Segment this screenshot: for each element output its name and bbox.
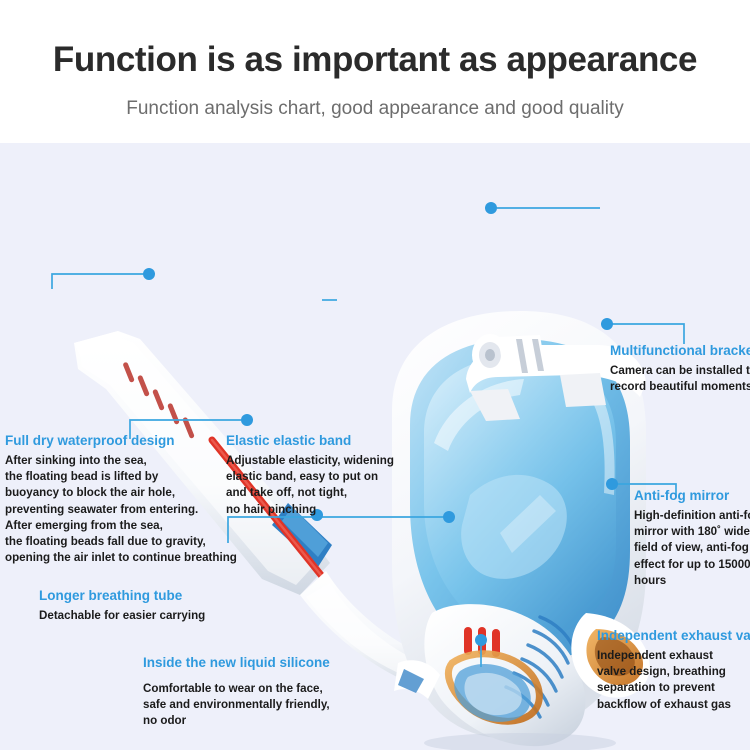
callout-line: and take off, not tight, xyxy=(226,485,394,501)
header-band: Function is as important as appearance F… xyxy=(0,0,750,143)
callout-line: no odor xyxy=(143,713,330,729)
dot-inside-the-new-liquid-silicone xyxy=(443,511,455,523)
callout-line: buoyancy to block the air hole, xyxy=(5,485,237,501)
dot-longer-breathing-tube xyxy=(241,414,253,426)
dot-independent-exhaust-valve xyxy=(606,478,618,490)
page-title: Function is as important as appearance xyxy=(0,40,750,80)
callout-body-elastic-elastic-band: Adjustable elasticity, widening elastic … xyxy=(226,453,394,518)
infographic-page: Function is as important as appearance F… xyxy=(0,0,750,750)
callout-body-multifunctional-bracket: Camera can be installed to record beauti… xyxy=(610,363,750,395)
callout-line: Independent exhaust xyxy=(597,648,750,664)
callout-heading-full-dry-waterproof-design: Full dry waterproof design xyxy=(5,433,237,450)
callout-line: backflow of exhaust gas xyxy=(597,697,750,713)
callout-inside-the-new-liquid-silicone: Inside the new liquid silicone Comfortab… xyxy=(143,655,330,730)
callout-line: elastic band, easy to put on xyxy=(226,469,394,485)
callout-line: record beautiful moments xyxy=(610,379,750,395)
callout-multifunctional-bracket: Multifunctional bracket Camera can be in… xyxy=(610,343,750,395)
callout-line: valve design, breathing xyxy=(597,664,750,680)
callout-independent-exhaust-valve: Independent exhaust valve Independent ex… xyxy=(597,628,750,713)
dot-anti-fog-mirror xyxy=(601,318,613,330)
callout-line: opening the air inlet to continue breath… xyxy=(5,550,237,566)
callout-line: Detachable for easier carrying xyxy=(39,608,205,624)
callout-elastic-elastic-band: Elastic elastic band Adjustable elastici… xyxy=(226,433,394,518)
callout-full-dry-waterproof-design: Full dry waterproof design After sinking… xyxy=(5,433,237,566)
dot-full-dry-waterproof-design xyxy=(143,268,155,280)
dot-drain-valve-system xyxy=(475,634,487,646)
page-subtitle: Function analysis chart, good appearance… xyxy=(0,98,750,120)
callout-line: Adjustable elasticity, widening xyxy=(226,453,394,469)
callout-line: preventing seawater from entering. xyxy=(5,502,237,518)
callout-line: the floating beads fall due to gravity, xyxy=(5,534,237,550)
callout-heading-anti-fog-mirror: Anti-fog mirror xyxy=(634,488,750,505)
callout-heading-longer-breathing-tube: Longer breathing tube xyxy=(39,588,205,605)
callout-line: separation to prevent xyxy=(597,680,750,696)
callout-line: effect for up to 15000 xyxy=(634,557,750,573)
callout-line: field of view, anti-fog xyxy=(634,540,750,556)
callout-line: mirror with 180˚ wide xyxy=(634,524,750,540)
callout-line: Camera can be installed to xyxy=(610,363,750,379)
dot-multifunctional-bracket xyxy=(485,202,497,214)
callout-heading-inside-the-new-liquid-silicone: Inside the new liquid silicone xyxy=(143,655,330,672)
callout-line: After emerging from the sea, xyxy=(5,518,237,534)
leader-anti-fog-mirror xyxy=(612,324,684,344)
callout-body-longer-breathing-tube: Detachable for easier carrying xyxy=(39,608,205,624)
callout-body-inside-the-new-liquid-silicone: Comfortable to wear on the face, safe an… xyxy=(143,681,330,730)
callout-line: Comfortable to wear on the face, xyxy=(143,681,330,697)
callout-body-anti-fog-mirror: High-definition anti-fog mirror with 180… xyxy=(634,508,750,589)
callout-line: safe and environmentally friendly, xyxy=(143,697,330,713)
callout-heading-elastic-elastic-band: Elastic elastic band xyxy=(226,433,394,450)
callout-body-full-dry-waterproof-design: After sinking into the sea, the floating… xyxy=(5,453,237,567)
callout-heading-independent-exhaust-valve: Independent exhaust valve xyxy=(597,628,750,645)
callout-line: hours xyxy=(634,573,750,589)
callout-line: After sinking into the sea, xyxy=(5,453,237,469)
callout-line: no hair pinching xyxy=(226,502,394,518)
callout-line: High-definition anti-fog xyxy=(634,508,750,524)
callout-line: the floating bead is lifted by xyxy=(5,469,237,485)
callout-longer-breathing-tube: Longer breathing tube Detachable for eas… xyxy=(39,588,205,624)
leader-full-dry-waterproof-design xyxy=(52,274,143,289)
callout-anti-fog-mirror: Anti-fog mirror High-definition anti-fog… xyxy=(634,488,750,589)
diagram-panel: Multifunctional bracket Camera can be in… xyxy=(0,143,750,750)
callout-heading-multifunctional-bracket: Multifunctional bracket xyxy=(610,343,750,360)
callout-body-independent-exhaust-valve: Independent exhaust valve design, breath… xyxy=(597,648,750,713)
